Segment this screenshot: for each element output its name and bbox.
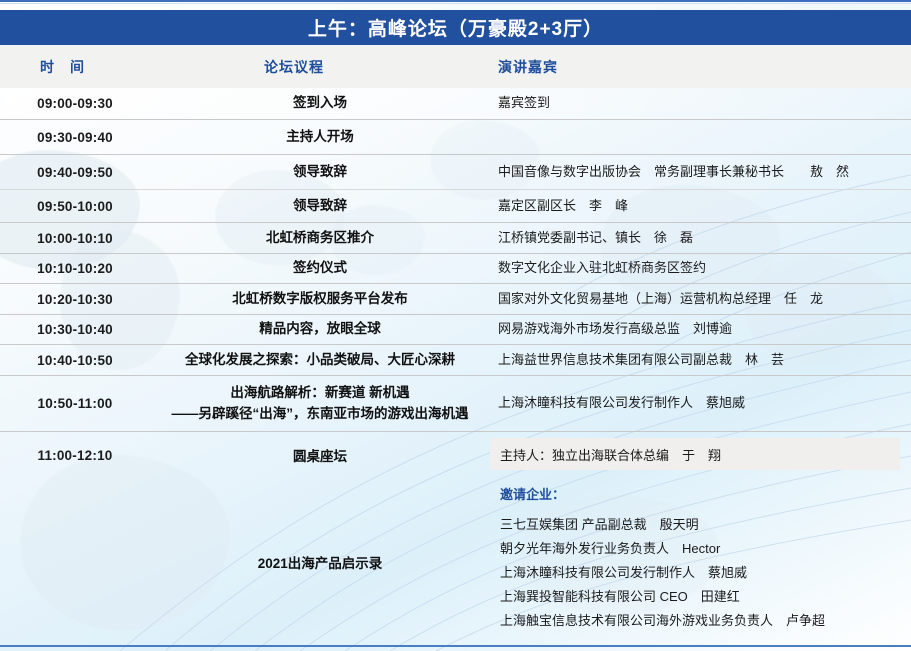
row-time: 09:00-09:30 xyxy=(0,88,150,119)
row-agenda: 北虹桥商务区推介 xyxy=(150,223,490,253)
row-time: 10:00-10:10 xyxy=(0,223,150,253)
row-guest: 上海益世界信息技术集团有限公司副总裁 林 芸 xyxy=(490,345,911,375)
top-rule-secondary xyxy=(0,3,911,4)
table-row: 10:10-10:20 签约仪式 数字文化企业入驻北虹桥商务区签约 xyxy=(0,254,911,284)
row-guest: 嘉定区副区长 李 峰 xyxy=(490,190,911,222)
row-time: 09:40-09:50 xyxy=(0,155,150,189)
table-row: 10:40-10:50 全球化发展之探索：小品类破局、大匠心深耕 上海益世界信息… xyxy=(0,345,911,376)
invited-companies-title: 邀请企业： xyxy=(500,484,565,503)
row-guest: 网易游戏海外市场发行高级总监 刘博逾 xyxy=(490,315,911,344)
table-row: 10:30-10:40 精品内容，放眼全球 网易游戏海外市场发行高级总监 刘博逾 xyxy=(0,315,911,345)
table-row: 09:00-09:30 签到入场 嘉宾签到 xyxy=(0,88,911,120)
list-item: 朝夕光年海外发行业务负责人 Hector xyxy=(500,536,905,560)
table-row: 10:50-11:00 出海航路解析：新赛道 新机遇 ——另辟蹊径“出海”，东南… xyxy=(0,376,911,432)
row-guest xyxy=(490,120,911,154)
session-banner: 上午：高峰论坛（万豪殿2+3厅） xyxy=(0,10,911,45)
row-time: 10:20-10:30 xyxy=(0,284,150,314)
table-row: 09:30-09:40 主持人开场 xyxy=(0,120,911,155)
row-agenda: 签到入场 xyxy=(150,88,490,119)
row-agenda-roundtable-bottom: 2021出海产品启示录 xyxy=(150,478,490,645)
row-time: 10:50-11:00 xyxy=(0,376,150,431)
row-agenda: 北虹桥数字版权服务平台发布 xyxy=(150,284,490,314)
list-item: 上海沐瞳科技有限公司发行制作人 蔡旭威 xyxy=(500,560,905,584)
row-agenda: 签约仪式 xyxy=(150,254,490,283)
row-guest: 嘉宾签到 xyxy=(490,88,911,119)
list-item: 上海巽投智能科技有限公司 CEO 田建红 xyxy=(500,584,905,608)
list-item: 三七互娱集团 产品副总裁 殷天明 xyxy=(500,512,905,536)
row-agenda: 出海航路解析：新赛道 新机遇 ——另辟蹊径“出海”，东南亚市场的游戏出海机遇 xyxy=(150,376,490,431)
row-agenda-roundtable-top: 圆桌座坛 xyxy=(150,432,490,478)
top-rule xyxy=(0,0,911,2)
row-agenda: 精品内容，放眼全球 xyxy=(150,315,490,344)
row-guest: 数字文化企业入驻北虹桥商务区签约 xyxy=(490,254,911,283)
row-guest: 江桥镇党委副书记、镇长 徐 磊 xyxy=(490,223,911,253)
row-guest: 国家对外文化贸易基地（上海）运营机构总经理 任 龙 xyxy=(490,284,911,314)
row-agenda: 领导致辞 xyxy=(150,190,490,222)
row-time: 10:40-10:50 xyxy=(0,345,150,375)
row-agenda: 领导致辞 xyxy=(150,155,490,189)
row-guest: 中国音像与数字出版协会 常务副理事长兼秘书长 敖 然 xyxy=(490,155,911,189)
column-header-time: 时 间 xyxy=(40,57,85,77)
bottom-rule xyxy=(0,645,911,647)
row-guest: 上海沐瞳科技有限公司发行制作人 蔡旭威 xyxy=(490,376,911,431)
row-agenda-line2: ——另辟蹊径“出海”，东南亚市场的游戏出海机遇 xyxy=(172,404,469,425)
row-agenda: 主持人开场 xyxy=(150,120,490,154)
roundtable-host: 主持人：独立出海联合体总编 于 翔 xyxy=(490,438,900,470)
column-header-agenda: 论坛议程 xyxy=(264,57,324,77)
table-row: 09:50-10:00 领导致辞 嘉定区副区长 李 峰 xyxy=(0,190,911,223)
invited-companies-list: 三七互娱集团 产品副总裁 殷天明 朝夕光年海外发行业务负责人 Hector 上海… xyxy=(500,512,905,632)
row-agenda-line1: 出海航路解析：新赛道 新机遇 xyxy=(230,383,409,404)
row-agenda: 全球化发展之探索：小品类破局、大匠心深耕 xyxy=(150,345,490,375)
list-item: 上海触宝信息技术有限公司海外游戏业务负责人 卢争超 xyxy=(500,608,905,632)
row-time: 11:00-12:10 xyxy=(0,432,150,478)
row-time: 09:30-09:40 xyxy=(0,120,150,154)
row-time: 10:10-10:20 xyxy=(0,254,150,283)
table-row: 10:20-10:30 北虹桥数字版权服务平台发布 国家对外文化贸易基地（上海）… xyxy=(0,284,911,315)
row-time: 09:50-10:00 xyxy=(0,190,150,222)
table-row: 09:40-09:50 领导致辞 中国音像与数字出版协会 常务副理事长兼秘书长 … xyxy=(0,155,911,190)
banner-title: 上午：高峰论坛（万豪殿2+3厅） xyxy=(308,14,603,41)
table-column-header: 时 间 论坛议程 演讲嘉宾 xyxy=(0,45,911,88)
table-row: 10:00-10:10 北虹桥商务区推介 江桥镇党委副书记、镇长 徐 磊 xyxy=(0,223,911,254)
agenda-page: 上午：高峰论坛（万豪殿2+3厅） 时 间 论坛议程 演讲嘉宾 09:00-09:… xyxy=(0,0,911,651)
row-time: 10:30-10:40 xyxy=(0,315,150,344)
column-header-guest: 演讲嘉宾 xyxy=(498,57,558,77)
